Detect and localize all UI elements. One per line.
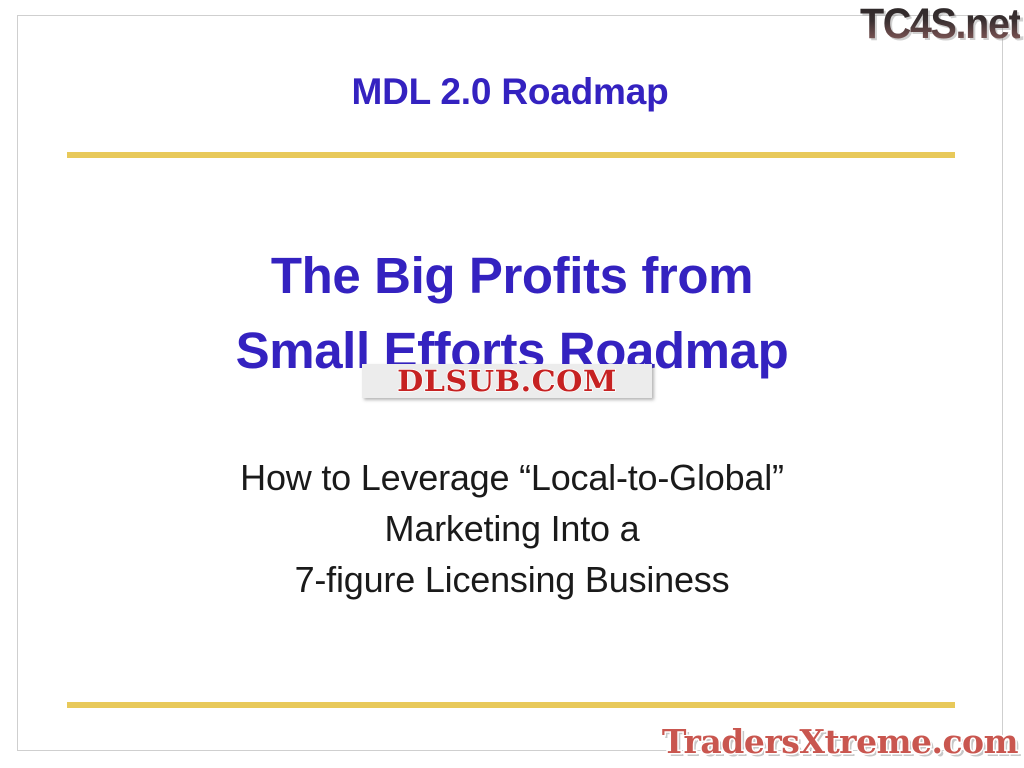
slide-body-text: How to Leverage “Local-to-Global” Market… (47, 452, 977, 605)
divider-line-bottom (67, 702, 955, 708)
watermark-dlsub-text: DLSUB.COM (356, 364, 658, 398)
watermark-dlsub: DLSUB.COM (362, 364, 652, 398)
body-line-3: 7-figure Licensing Business (47, 554, 977, 605)
divider-line-top (67, 152, 955, 158)
body-line-2: Marketing Into a (47, 503, 977, 554)
body-line-1: How to Leverage “Local-to-Global” (47, 452, 977, 503)
watermark-tradersxtreme: TradersXtreme.com (662, 724, 1018, 760)
slide-canvas: MDL 2.0 Roadmap The Big Profits from Sma… (0, 0, 1024, 768)
watermark-tc4s: TC4S.net (860, 2, 1020, 47)
main-heading-line-1: The Big Profits from (47, 239, 977, 314)
slide-header-title: MDL 2.0 Roadmap (60, 72, 960, 113)
